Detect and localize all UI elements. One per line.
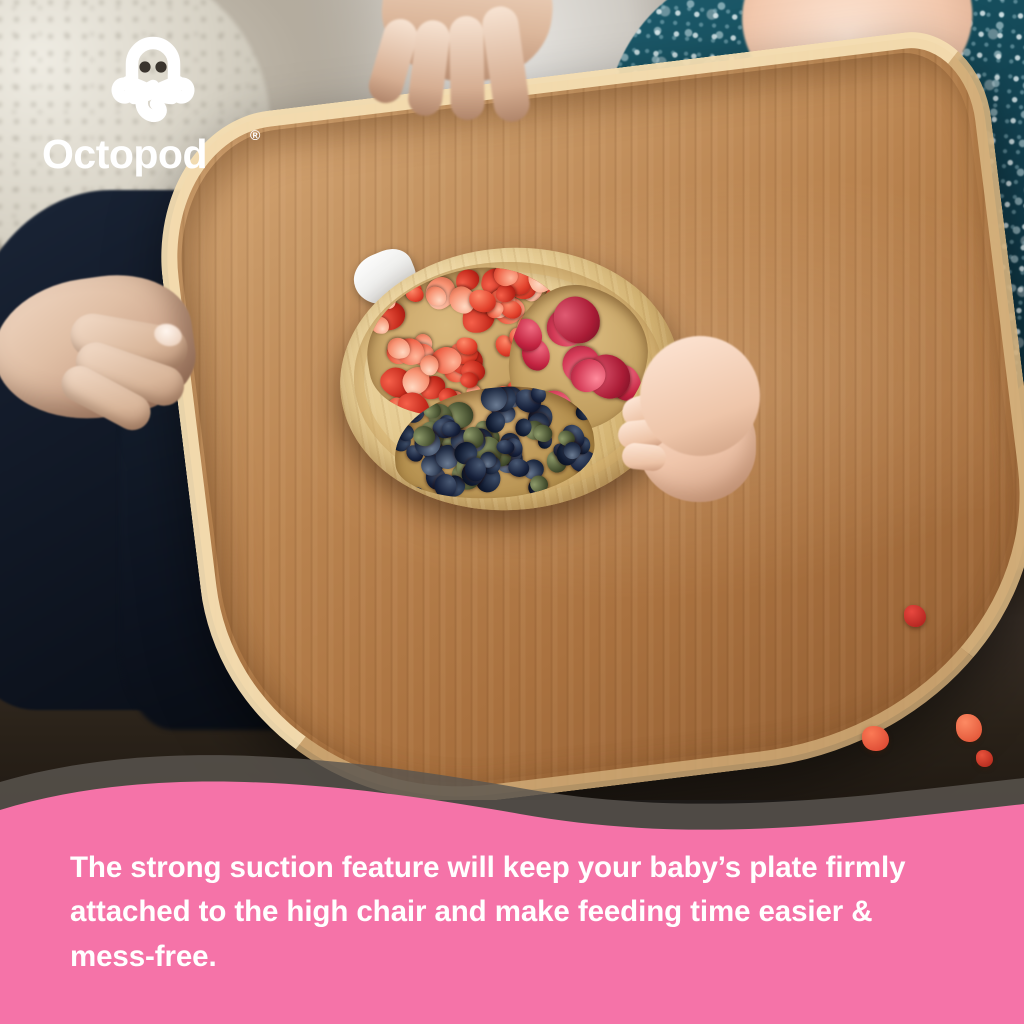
caption-banner: The strong suction feature will keep you… (0, 724, 1024, 1024)
finger (621, 442, 667, 472)
food-crumb (904, 605, 926, 627)
product-banner: Octopod ® The strong suction feature wil… (0, 0, 1024, 1024)
brand-wordmark: Octopod (42, 134, 272, 175)
strawberry-piece (426, 286, 446, 305)
finger (449, 16, 485, 121)
registered-trademark-icon: ® (250, 128, 260, 142)
brand-logo: Octopod ® (42, 34, 272, 180)
caption-text: The strong suction feature will keep you… (70, 846, 960, 980)
blueberry (407, 487, 424, 501)
adult-hand-upper (352, 0, 572, 132)
octopus-icon (98, 34, 208, 134)
strawberry-piece (456, 337, 477, 354)
adult-hand-left (0, 268, 224, 448)
strawberry-piece (405, 286, 424, 302)
